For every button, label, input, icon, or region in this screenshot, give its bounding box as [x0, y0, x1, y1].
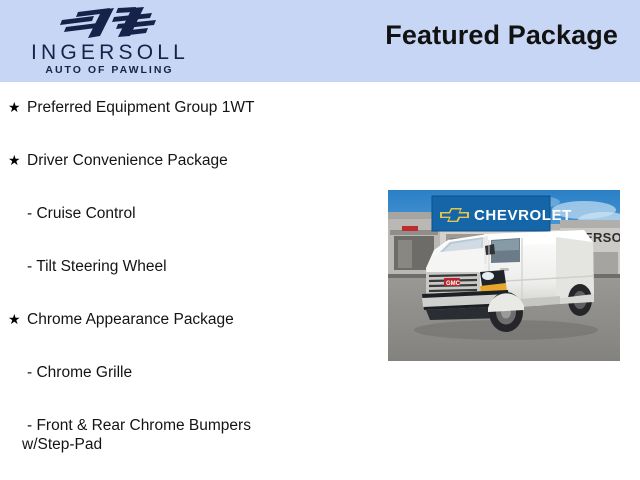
- star-icon: ★: [8, 98, 27, 117]
- list-item-label: Preferred Equipment Group 1WT: [27, 98, 254, 117]
- svg-text:GMC: GMC: [446, 281, 461, 287]
- page-header: INGERSOLL AUTO OF PAWLING Featured Packa…: [0, 0, 640, 82]
- list-item: - Front & Rear Chrome Bumpers: [27, 416, 251, 435]
- logo-wordmark: INGERSOLL: [8, 41, 208, 64]
- list-item: - Chrome Grille: [27, 363, 132, 382]
- list-item: - Tilt Steering Wheel: [27, 257, 167, 276]
- ingersoll-winged-emblem: [44, 6, 172, 40]
- feature-list: ★Preferred Equipment Group 1WT ★Driver C…: [0, 82, 370, 480]
- list-item: ★Preferred Equipment Group 1WT: [8, 98, 254, 117]
- list-item: ★Driver Convenience Package: [8, 151, 228, 170]
- star-icon: ★: [8, 310, 27, 329]
- star-icon: ★: [8, 151, 27, 170]
- svg-text:CHEVROLET: CHEVROLET: [474, 207, 572, 224]
- dealer-logo: INGERSOLL AUTO OF PAWLING: [8, 4, 208, 80]
- page-title: Featured Package: [385, 20, 618, 51]
- list-item-wrap: w/Step-Pad: [22, 435, 102, 454]
- vehicle-photo: CHEVROLET ERSOLL: [388, 190, 620, 361]
- list-item: ★Chrome Appearance Package: [8, 310, 234, 329]
- list-item-label: Driver Convenience Package: [27, 151, 228, 170]
- logo-tagline: AUTO OF PAWLING: [8, 64, 208, 76]
- list-item-label: Chrome Appearance Package: [27, 310, 234, 329]
- vehicle-photo-image: CHEVROLET ERSOLL: [388, 190, 620, 361]
- list-item: - Cruise Control: [27, 204, 136, 223]
